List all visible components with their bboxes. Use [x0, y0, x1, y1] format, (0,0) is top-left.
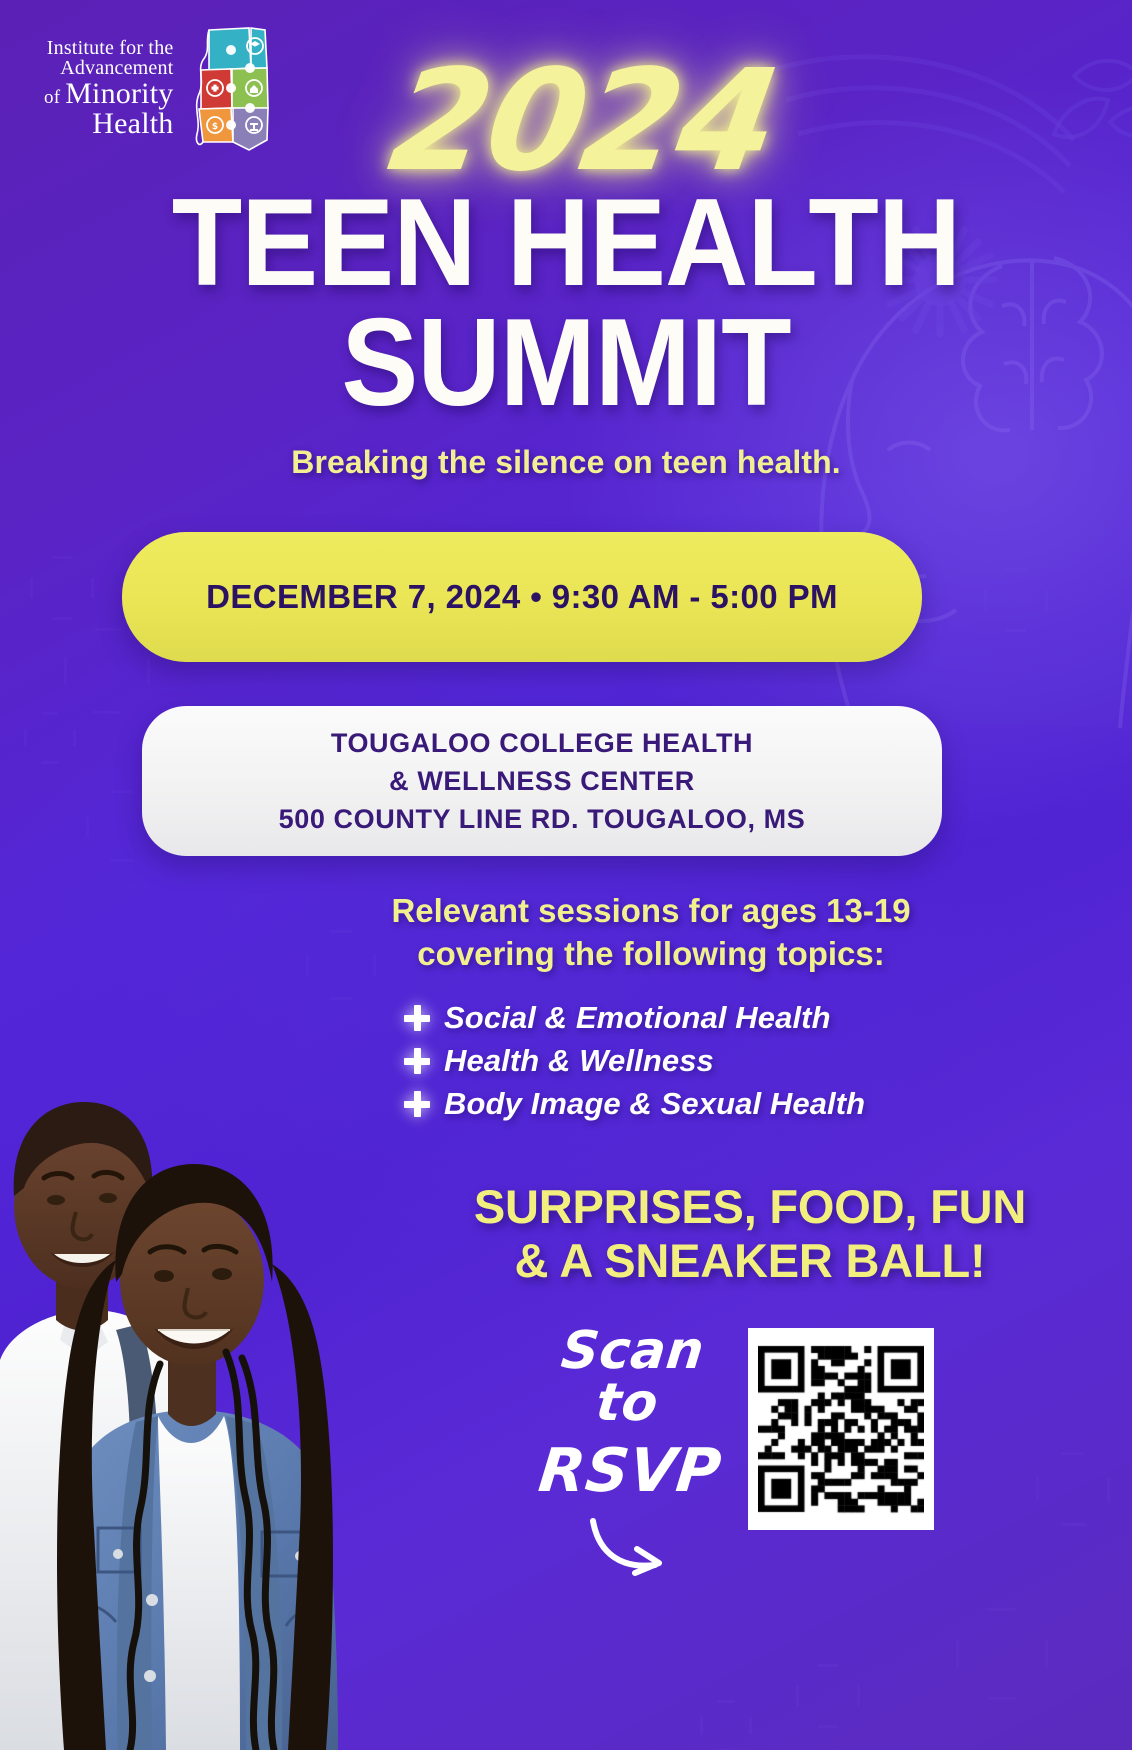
topic-label: Health & Wellness	[444, 1043, 714, 1079]
list-item: Health & Wellness	[404, 1043, 865, 1079]
venue-line-2: & WELLNESS CENTER	[389, 762, 695, 800]
sessions-heading-line-1: Relevant sessions for ages 13-19	[230, 890, 1072, 933]
list-item: Body Image & Sexual Health	[404, 1086, 865, 1122]
topic-label: Social & Emotional Health	[444, 1000, 831, 1036]
logo-line-3-prefix: of	[44, 87, 65, 108]
topics-list: Social & Emotional Health Health & Welln…	[404, 1000, 865, 1129]
logo-line-3: of Minority	[44, 79, 173, 110]
event-poster: Institute for the Advancement of Minorit…	[0, 0, 1132, 1750]
scan-line-2: RSVP	[517, 1441, 743, 1501]
scan-line-1: Scan to	[515, 1325, 746, 1429]
teens-photo	[0, 960, 420, 1750]
venue-line-1: TOUGALOO COLLEGE HEALTH	[331, 724, 753, 762]
logo-line-1: Institute for the	[44, 38, 173, 58]
logo-wordmark: Institute for the Advancement of Minorit…	[44, 38, 173, 140]
curved-arrow-icon	[585, 1515, 675, 1579]
logo-line-4: Health	[44, 109, 173, 140]
logo-line-3-main: Minority	[65, 77, 173, 110]
venue-line-3: 500 COUNTY LINE RD. TOUGALOO, MS	[279, 800, 806, 838]
logo-line-2: Advancement	[44, 58, 173, 78]
organization-logo: Institute for the Advancement of Minorit…	[44, 24, 275, 154]
qr-code[interactable]	[748, 1328, 934, 1530]
venue-card: TOUGALOO COLLEGE HEALTH & WELLNESS CENTE…	[142, 706, 942, 856]
date-time-text: DECEMBER 7, 2024 • 9:30 AM - 5:00 PM	[206, 578, 838, 616]
topic-label: Body Image & Sexual Health	[444, 1086, 865, 1122]
scan-to-rsvp-block: Scan to RSVP	[520, 1325, 740, 1579]
surprises-callout: SURPRISES, FOOD, FUN & A SNEAKER BALL!	[404, 1180, 1096, 1287]
title-line-2: SUMMIT	[40, 306, 1093, 420]
title-line-1: TEEN HEALTH	[40, 186, 1093, 300]
surprises-line-1: SURPRISES, FOOD, FUN	[404, 1180, 1096, 1234]
mississippi-puzzle-icon: $	[179, 24, 275, 154]
tagline: Breaking the silence on teen health.	[0, 444, 1132, 481]
date-time-banner: DECEMBER 7, 2024 • 9:30 AM - 5:00 PM	[122, 532, 922, 662]
poster-title: TEEN HEALTH SUMMIT	[0, 186, 1132, 420]
svg-text:$: $	[212, 122, 218, 132]
list-item: Social & Emotional Health	[404, 1000, 865, 1036]
surprises-line-2: & A SNEAKER BALL!	[404, 1234, 1096, 1288]
